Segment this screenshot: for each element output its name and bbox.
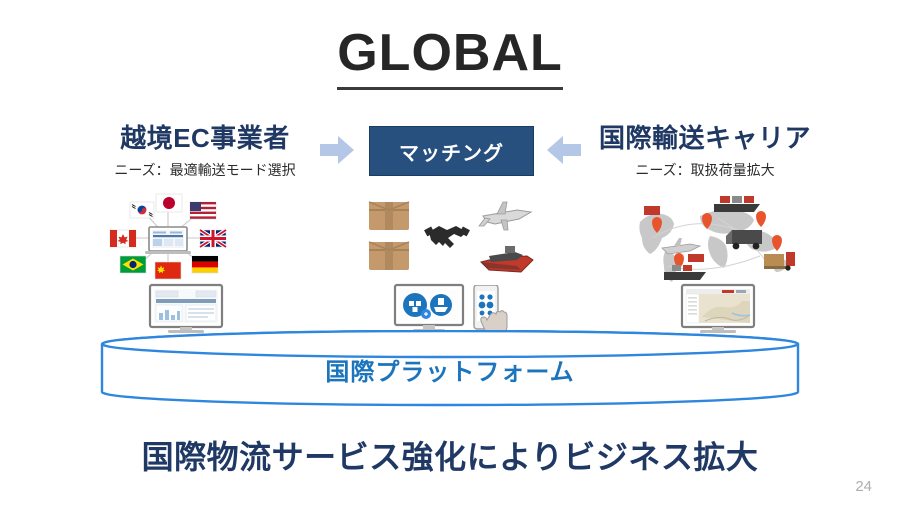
flag-uk [200,230,226,247]
flag-china [155,262,181,279]
right-heading: 国際輸送キャリア [555,118,855,155]
platform-label: 国際プラットフォーム [100,352,800,387]
flag-germany [192,256,218,273]
matching-label: マッチング [399,137,504,166]
slide-canvas: GLOBAL 越境EC事業者 ニーズ：最適輸送モード選択 国際輸送キャリア ニー… [0,0,900,507]
monitor-app [393,283,465,333]
left-subtitle: ニーズ：最適輸送モード選択 [60,160,350,180]
right-subtitle: ニーズ：取扱荷量拡大 [555,160,855,180]
flag-japan [156,194,182,212]
airplane-icon [662,238,700,254]
cardboard-box-icon [369,202,409,230]
cargo-handshake-transport [355,196,535,284]
flag-usa [190,202,216,219]
monitor-map [672,283,764,333]
page-number: 24 [855,478,872,495]
left-column-header: 越境EC事業者 ニーズ：最適輸送モード選択 [60,118,350,180]
airplane-icon [479,202,531,230]
page-title: GLOBAL [337,26,563,90]
arrow-left-icon [547,136,581,164]
flag-canada [110,230,136,247]
center-laptop-icon [145,227,191,254]
footer-tagline: 国際物流サービス強化によりビジネス拡大 [0,432,900,478]
container-ship-icon [714,196,760,212]
pallet-forklift-icon [764,252,795,271]
flag-korea [130,202,154,218]
cardboard-box-icon [369,242,409,270]
left-heading: 越境EC事業者 [60,118,350,155]
flag-brazil [120,256,146,273]
global-flags-network [98,188,238,288]
matching-box: マッチング [369,126,534,176]
page-title-wrap: GLOBAL [0,26,900,90]
handshake-icon [424,226,470,248]
cargo-ship-icon [481,246,533,272]
right-column-header: 国際輸送キャリア ニーズ：取扱荷量拡大 [555,118,855,180]
laptop-dashboard [140,283,232,333]
world-logistics-map [622,188,807,288]
cargo-truck-icon [726,230,762,249]
arrow-right-icon [320,136,354,164]
